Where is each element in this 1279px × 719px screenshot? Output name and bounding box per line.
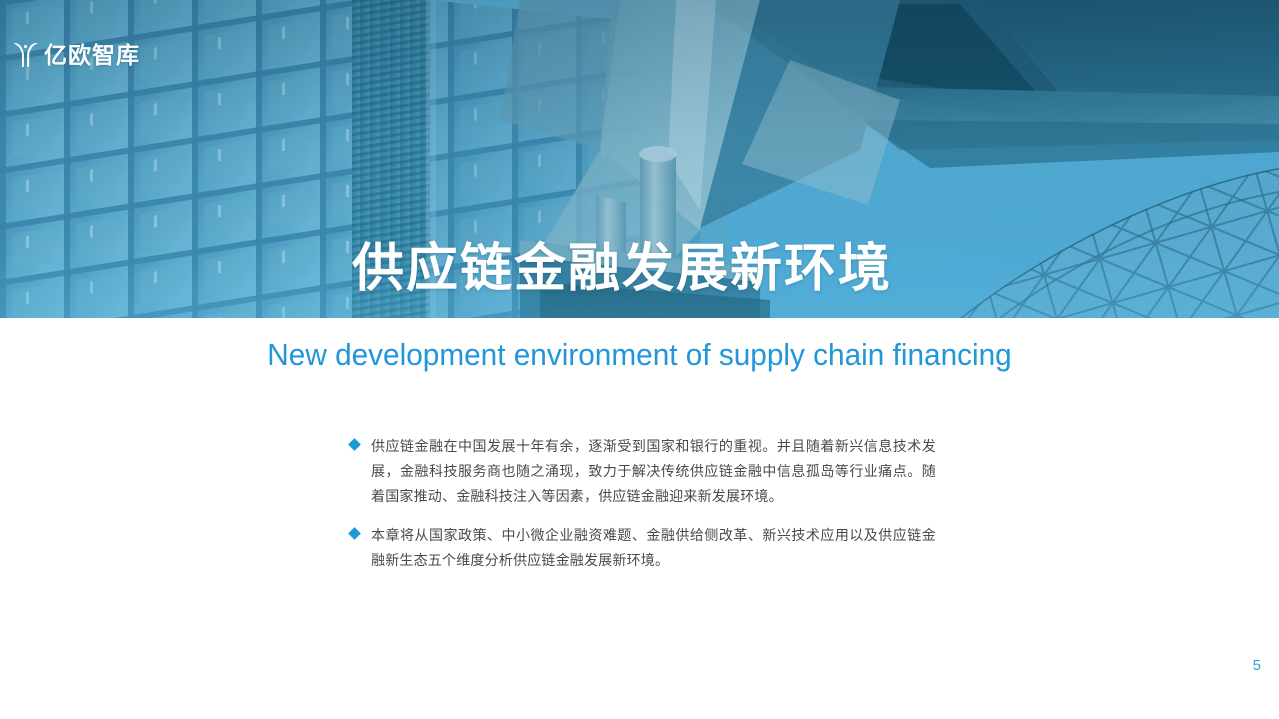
page-number: 5	[1253, 658, 1261, 673]
slide: 亿欧智库 供应链金融发展新环境 New development environm…	[0, 0, 1279, 719]
bullet-text: 本章将从国家政策、中小微企业融资难题、金融供给侧改革、新兴技术应用以及供应链金融…	[371, 523, 936, 573]
hero-banner: 亿欧智库 供应链金融发展新环境	[0, 0, 1279, 318]
list-item: 供应链金融在中国发展十年有余，逐渐受到国家和银行的重视。并且随着新兴信息技术发展…	[350, 434, 936, 509]
bullet-text: 供应链金融在中国发展十年有余，逐渐受到国家和银行的重视。并且随着新兴信息技术发展…	[371, 434, 936, 509]
list-item: 本章将从国家政策、中小微企业融资难题、金融供给侧改革、新兴技术应用以及供应链金融…	[350, 523, 936, 573]
diamond-bullet-icon	[348, 527, 361, 540]
yiou-mark-icon	[14, 40, 40, 70]
logo-text: 亿欧智库	[44, 44, 140, 67]
page-subtitle: New development environment of supply ch…	[26, 336, 1254, 373]
body-bullet-list: 供应链金融在中国发展十年有余，逐渐受到国家和银行的重视。并且随着新兴信息技术发展…	[350, 434, 936, 573]
diamond-bullet-icon	[348, 438, 361, 451]
brand-logo: 亿欧智库	[14, 40, 140, 70]
page-title: 供应链金融发展新环境	[352, 240, 892, 298]
